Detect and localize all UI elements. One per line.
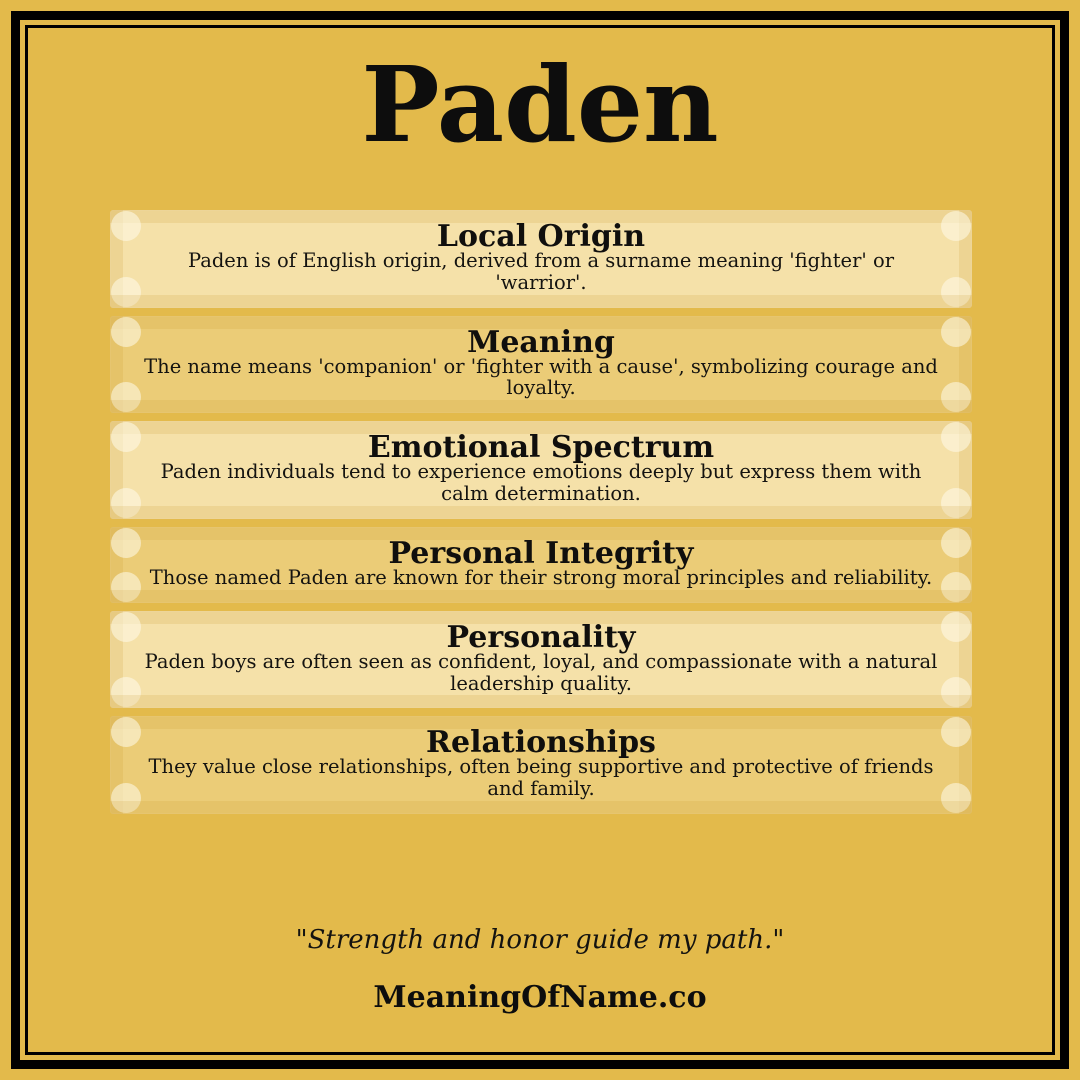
card-edge-right [959,421,972,519]
page-title: Paden [28,50,1052,159]
card-description: Paden is of English origin, derived from… [136,250,946,294]
card-description: They value close relationships, often be… [136,756,946,800]
card-description: Paden boys are often seen as confident, … [136,651,946,695]
footer-brand: MeaningOfName.co [28,981,1052,1014]
card-title: Meaning [136,328,946,358]
card-edge-right [959,316,972,414]
card-edge-left [110,316,123,414]
card-title: Relationships [136,728,946,758]
card-description: The name means 'companion' or 'fighter w… [136,356,946,400]
poster-canvas: Paden Local Origin Paden is of English o… [0,0,1080,1080]
card-edge-right [959,611,972,709]
card-edge-left [110,611,123,709]
card-title: Local Origin [136,222,946,252]
info-card-meaning: Meaning The name means 'companion' or 'f… [110,316,972,414]
card-description: Those named Paden are known for their st… [136,567,946,589]
card-title: Personality [136,623,946,653]
footer-quote: "Strength and honor guide my path." [28,926,1052,955]
footer: "Strength and honor guide my path." Mean… [28,926,1052,1014]
info-card-local-origin: Local Origin Paden is of English origin,… [110,210,972,308]
info-card-emotional-spectrum: Emotional Spectrum Paden individuals ten… [110,421,972,519]
info-card-personality: Personality Paden boys are often seen as… [110,611,972,709]
info-card-list: Local Origin Paden is of English origin,… [110,210,972,822]
card-edge-left [110,716,123,814]
card-title: Personal Integrity [136,539,946,569]
info-card-personal-integrity: Personal Integrity Those named Paden are… [110,527,972,603]
poster-content: Paden Local Origin Paden is of English o… [28,28,1052,1052]
card-edge-right [959,527,972,603]
card-edge-right [959,210,972,308]
info-card-relationships: Relationships They value close relations… [110,716,972,814]
card-edge-left [110,527,123,603]
card-description: Paden individuals tend to experience emo… [136,461,946,505]
card-edge-left [110,210,123,308]
card-title: Emotional Spectrum [136,433,946,463]
card-edge-left [110,421,123,519]
card-edge-right [959,716,972,814]
